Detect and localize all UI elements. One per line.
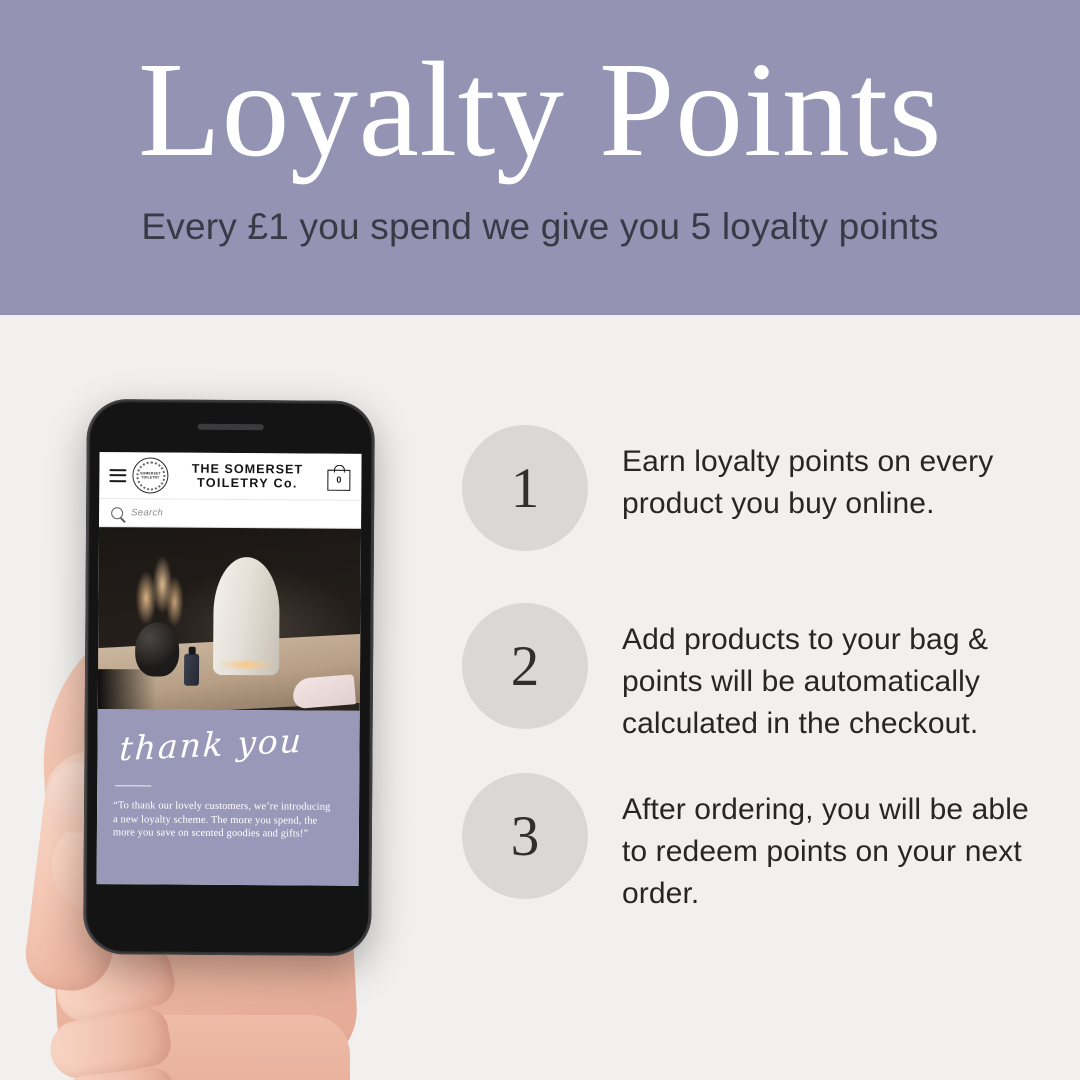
- step-number-circle: 2: [462, 603, 588, 729]
- page-subtitle: Every £1 you spend we give you 5 loyalty…: [141, 206, 938, 248]
- step-number: 3: [511, 808, 540, 865]
- step-item: 1 Earn loyalty points on every product y…: [462, 425, 1062, 551]
- steps-list: 1 Earn loyalty points on every product y…: [462, 425, 1062, 963]
- search-bar[interactable]: Search: [99, 499, 361, 529]
- shopping-bag-icon[interactable]: 0: [326, 463, 351, 490]
- divider-rule: [115, 785, 151, 787]
- thank-you-card: thank you “To thank our lovely customers…: [97, 709, 360, 886]
- step-description: Earn loyalty points on every product you…: [622, 425, 1052, 525]
- search-icon: [111, 507, 123, 519]
- step-item: 2 Add products to your bag & points will…: [462, 603, 1062, 745]
- step-description: After ordering, you will be able to rede…: [622, 773, 1052, 915]
- bag-handle: [333, 464, 344, 472]
- site-header: SOMERSET TOILETRY THE SOMERSET TOILETRY …: [99, 452, 361, 501]
- brand-seal-logo[interactable]: SOMERSET TOILETRY: [132, 457, 168, 493]
- ceramic-diffuser: [213, 557, 280, 675]
- thank-you-quote: “To thank our lovely customers, we’re in…: [113, 799, 335, 841]
- paper-prop: [292, 675, 356, 710]
- brand-name[interactable]: THE SOMERSET TOILETRY Co.: [174, 462, 320, 491]
- phone-mockup-scene: SOMERSET TOILETRY THE SOMERSET TOILETRY …: [0, 315, 470, 1080]
- black-vase: [135, 623, 179, 677]
- search-placeholder: Search: [131, 507, 163, 518]
- step-description: Add products to your bag & points will b…: [622, 603, 1052, 745]
- phone-device: SOMERSET TOILETRY THE SOMERSET TOILETRY …: [83, 399, 375, 956]
- page-title: Loyalty Points: [138, 42, 942, 178]
- phone-speaker-grille: [198, 424, 264, 430]
- cart-count-badge: 0: [327, 469, 350, 490]
- hamburger-menu-icon[interactable]: [109, 469, 126, 482]
- phone-screen: SOMERSET TOILETRY THE SOMERSET TOILETRY …: [97, 452, 362, 886]
- step-number-circle: 3: [462, 773, 588, 899]
- header-band: Loyalty Points Every £1 you spend we giv…: [0, 0, 1080, 315]
- thank-you-script: thank you: [118, 721, 344, 767]
- brand-name-line1: THE SOMERSET: [174, 462, 320, 477]
- brand-name-line2: TOILETRY Co.: [174, 476, 320, 491]
- content-section: SOMERSET TOILETRY THE SOMERSET TOILETRY …: [0, 315, 1080, 1080]
- step-number: 1: [511, 460, 540, 517]
- seal-label: SOMERSET TOILETRY: [133, 471, 167, 479]
- step-number-circle: 1: [462, 425, 588, 551]
- step-number: 2: [511, 638, 540, 695]
- pampas-grass: [127, 549, 190, 633]
- hero-product-image: [98, 527, 361, 711]
- oil-dropper-bottle: [184, 654, 199, 686]
- step-item: 3 After ordering, you will be able to re…: [462, 773, 1062, 915]
